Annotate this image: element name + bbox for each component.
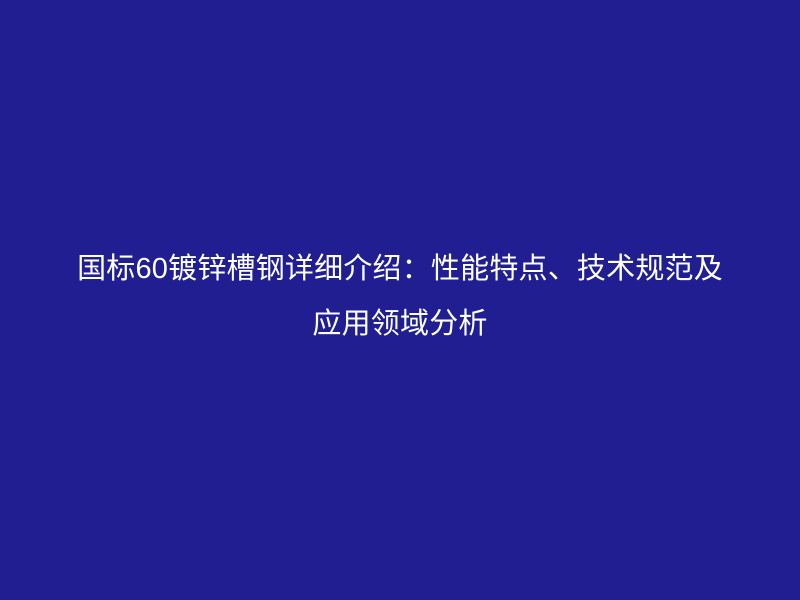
page-title: 国标60镀锌槽钢详细介绍：性能特点、技术规范及 应用领域分析 <box>40 242 760 358</box>
title-card-slide: 国标60镀锌槽钢详细介绍：性能特点、技术规范及 应用领域分析 <box>0 0 800 600</box>
page-title-line-2: 应用领域分析 <box>40 297 760 352</box>
page-title-line-1: 国标60镀锌槽钢详细介绍：性能特点、技术规范及 <box>40 242 760 297</box>
